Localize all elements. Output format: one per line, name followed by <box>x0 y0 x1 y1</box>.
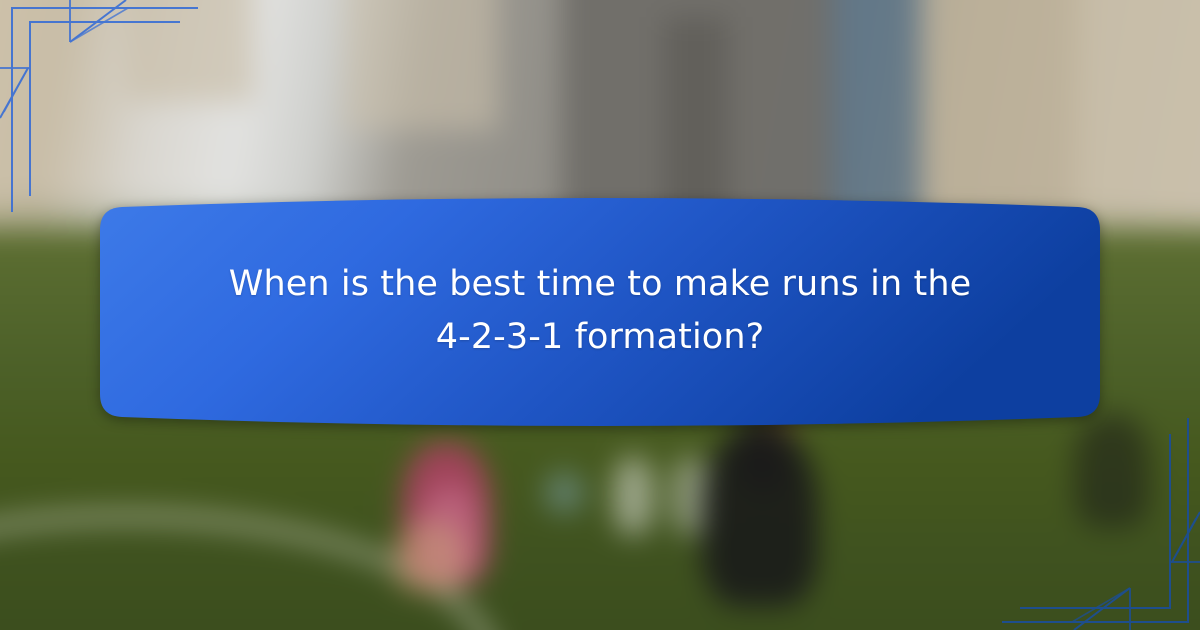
player-silhouette <box>1074 414 1151 528</box>
building-block <box>126 0 254 102</box>
player-silhouette <box>613 457 654 535</box>
ball-silhouette <box>544 471 585 514</box>
headline-line-2: 4-2-3-1 formation? <box>436 311 765 364</box>
headline-line-1: When is the best time to make runs in th… <box>229 258 971 311</box>
player-silhouette <box>702 429 817 607</box>
headline-banner: When is the best time to make runs in th… <box>98 196 1102 428</box>
poster-canvas: When is the best time to make runs in th… <box>0 0 1200 630</box>
player-silhouette <box>395 521 465 592</box>
banner-text-block: When is the best time to make runs in th… <box>98 196 1102 428</box>
